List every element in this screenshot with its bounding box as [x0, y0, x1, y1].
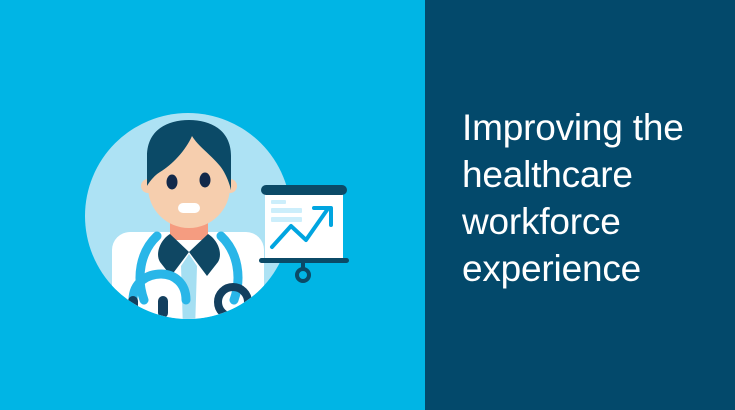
marketing-banner: Improving the healthcare workforce exper… [0, 0, 735, 410]
board-text-line-1 [271, 200, 286, 204]
board-hook-ring [297, 269, 309, 281]
illustration-area [0, 0, 425, 410]
headline-text: Improving the healthcare workforce exper… [462, 104, 722, 292]
stethoscope-earpiece-right [158, 296, 168, 318]
doctor-illustration [0, 0, 425, 410]
board-text-line-2 [271, 208, 302, 213]
doctor-eye-right [200, 173, 211, 188]
doctor-mouth [178, 203, 200, 213]
board-top-bar [261, 185, 347, 195]
headline-panel: Improving the healthcare workforce exper… [425, 0, 735, 410]
board-text-line-3 [271, 217, 302, 222]
stethoscope-earpiece-left [128, 296, 138, 318]
doctor-eye-left [167, 175, 178, 190]
